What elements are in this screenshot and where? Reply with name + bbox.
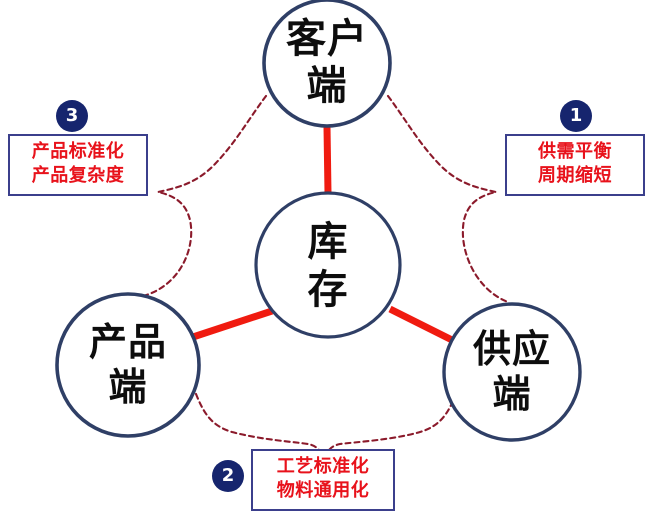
customer-node-label-line1: 客户 [286,16,368,62]
callout-process-standardization-line1: 工艺标准化 [259,455,387,479]
callout-process-standardization-line2: 物料通用化 [259,479,387,503]
product-node[interactable]: 产品 端 [57,294,199,436]
supply-node-label-line2: 端 [492,372,531,416]
inventory-node[interactable]: 库 存 [256,193,400,337]
callout-supply-demand-line2: 周期缩短 [513,164,637,188]
supply-node-label-line1: 供应 [473,327,551,371]
customer-node-label-line2: 端 [307,63,348,109]
brace-left [143,96,266,296]
badge-1: 1 [560,100,592,132]
callout-process-standardization[interactable]: 工艺标准化 物料通用化 [251,449,395,511]
callout-product-standardization[interactable]: 产品标准化 产品复杂度 [8,134,148,196]
spoke-inventory-supply [390,309,452,340]
callout-product-standardization-line2: 产品复杂度 [16,164,140,188]
product-node-label-line1: 产品 [89,320,167,364]
badge-2: 2 [212,460,244,492]
spoke-inventory-customer [327,127,328,193]
product-node-label-line2: 端 [108,365,147,409]
inventory-node-circle [256,193,400,337]
diagram-canvas: 客户 端 库 存 产品 端 供应 端 1 供 [0,0,652,521]
callout-product-standardization-line1: 产品标准化 [16,140,140,164]
inventory-node-label-line1: 库 [308,219,349,265]
relationship-diagram: 客户 端 库 存 产品 端 供应 端 [0,0,652,521]
customer-node[interactable]: 客户 端 [264,0,390,126]
inventory-node-label-line2: 存 [308,267,349,313]
brace-right [388,96,508,302]
node-group: 客户 端 库 存 产品 端 供应 端 [57,0,580,440]
badge-3: 3 [56,100,88,132]
spoke-inventory-product [193,311,272,337]
supply-node[interactable]: 供应 端 [444,304,580,440]
callout-supply-demand-line1: 供需平衡 [513,140,637,164]
callout-supply-demand[interactable]: 供需平衡 周期缩短 [505,134,645,196]
